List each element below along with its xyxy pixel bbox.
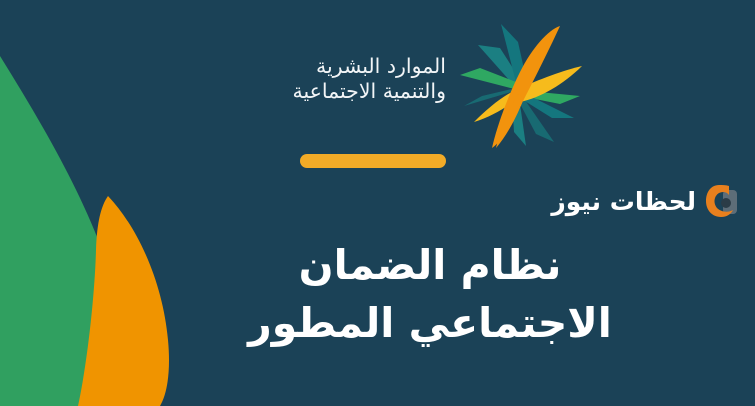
green-petal-shape: [0, 40, 126, 406]
headline-line-2: الاجتماعي المطور: [160, 294, 700, 352]
orange-divider-bar: [300, 154, 446, 168]
news-watermark: لحظات نيوز: [551, 182, 741, 220]
orange-petal-shape: [78, 196, 169, 406]
watermark-icon-dot: [721, 198, 731, 208]
ministry-name-line-2: والتنمية الاجتماعية: [231, 79, 446, 104]
ministry-logo-text: الموارد البشرية والتنمية الاجتماعية: [231, 54, 446, 104]
social-security-banner: الموارد البشرية والتنمية الاجتماعية لحظا…: [0, 0, 755, 406]
page-title: نظام الضمان الاجتماعي المطور: [160, 236, 700, 352]
ministry-name-line-1: الموارد البشرية: [231, 54, 446, 79]
lahazat-news-logo-icon: [703, 182, 741, 220]
news-watermark-label: لحظات نيوز: [551, 189, 696, 214]
saudi-ministry-palm-star-logo-icon: [456, 18, 588, 150]
headline-line-1: نظام الضمان: [160, 236, 700, 294]
